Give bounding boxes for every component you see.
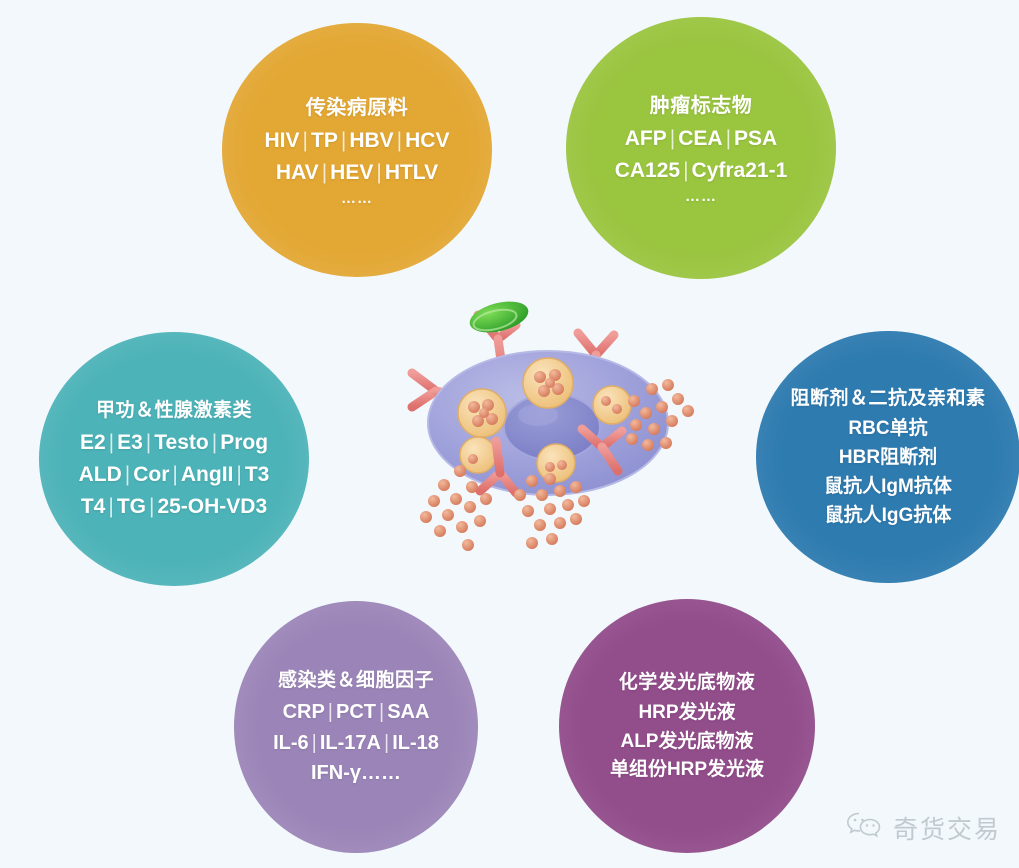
item: AFP: [625, 127, 667, 150]
item: CA125: [615, 159, 680, 182]
separator-icon: |: [309, 732, 320, 754]
bubble-line: 鼠抗人IgM抗体: [824, 473, 952, 502]
separator-icon: |: [122, 463, 133, 486]
separator-icon: |: [105, 495, 116, 518]
item: PSA: [734, 127, 777, 150]
item: HTLV: [385, 161, 438, 184]
item: IL-6: [273, 732, 309, 754]
bubble-line: CA125|Cyfra21-1: [615, 155, 788, 187]
vesicle-bottom-mid-edge: [537, 444, 575, 482]
vesicle-top: [523, 358, 573, 408]
vesicle-left: [458, 389, 506, 437]
item: Cyfra21-1: [692, 159, 788, 182]
item: T3: [245, 463, 270, 486]
bubble-content: 甲功＆性腺激素类 E2|E3|Testo|Prog ALD|Cor|AngII|…: [30, 395, 318, 523]
wechat-watermark: 奇货交易: [844, 809, 1001, 846]
separator-icon: |: [325, 701, 336, 723]
separator-icon: |: [723, 127, 734, 150]
separator-icon: |: [143, 431, 154, 454]
bubble-line: E2|E3|Testo|Prog: [80, 427, 268, 459]
bubble-ellipsis: ……: [685, 186, 717, 207]
item: IL-17A: [320, 732, 381, 754]
bubble-blockers-secondary-antibodies-avidin[interactable]: 阻断剂＆二抗及亲和素 RBC单抗 HBR阻断剂 鼠抗人IgM抗体 鼠抗人IgG抗…: [747, 322, 1019, 592]
wechat-icon: [844, 809, 884, 846]
bubble-line: AFP|CEA|PSA: [625, 123, 777, 155]
separator-icon: |: [319, 161, 330, 184]
separator-icon: |: [146, 495, 157, 518]
item: HCV: [405, 129, 449, 152]
bubble-title: 甲功＆性腺激素类: [96, 395, 252, 422]
item: PCT: [336, 701, 376, 723]
item: SAA: [387, 701, 429, 723]
vesicle-right-edge: [593, 386, 631, 424]
antigen-icon: [467, 296, 532, 338]
item: 25-OH-VD3: [157, 495, 267, 518]
separator-icon: |: [338, 129, 349, 152]
bubble-content: 感染类＆细胞因子 CRP|PCT|SAA IL-6|IL-17A|IL-18 I…: [225, 665, 487, 788]
separator-icon: |: [233, 463, 244, 486]
bubble-content: 传染病原料 HIV|TP|HBV|HCV HAV|HEV|HTLV ……: [213, 91, 501, 210]
separator-icon: |: [667, 127, 678, 150]
item: HIV: [265, 129, 300, 152]
bubble-line: IFN-γ……: [311, 758, 401, 788]
bubble-line: 鼠抗人IgG抗体: [825, 502, 952, 531]
bubble-title: 肿瘤标志物: [650, 89, 753, 118]
item: HAV: [276, 161, 319, 184]
bubble-title: 阻断剂＆二抗及亲和素: [790, 383, 985, 410]
bubble-line: HBR阻断剂: [839, 444, 937, 473]
item: AngII: [181, 463, 234, 486]
bubble-content: 化学发光底物液 HRP发光液 ALP发光底物液 单组份HRP发光液: [550, 667, 824, 786]
bubble-line: ALD|Cor|AngII|T3: [79, 459, 270, 491]
bubble-line: CRP|PCT|SAA: [283, 697, 430, 727]
bubble-tumor-markers[interactable]: 肿瘤标志物 AFP|CEA|PSA CA125|Cyfra21-1 ……: [557, 8, 845, 288]
separator-icon: |: [680, 159, 691, 182]
vesicle-bottom-left-edge: [460, 437, 496, 473]
separator-icon: |: [376, 701, 387, 723]
separator-icon: |: [394, 129, 405, 152]
item: Prog: [220, 431, 268, 454]
item: HEV: [330, 161, 373, 184]
bubble-chemiluminescent-substrates[interactable]: 化学发光底物液 HRP发光液 ALP发光底物液 单组份HRP发光液: [550, 590, 824, 862]
bubble-infectious-disease-raw-materials[interactable]: 传染病原料 HIV|TP|HBV|HCV HAV|HEV|HTLV ……: [213, 14, 501, 286]
separator-icon: |: [381, 732, 392, 754]
separator-icon: |: [373, 161, 384, 184]
separator-icon: |: [209, 431, 220, 454]
item: CRP: [283, 701, 325, 723]
item: TG: [117, 495, 146, 518]
separator-icon: |: [300, 129, 311, 152]
watermark-text: 奇货交易: [893, 810, 1001, 846]
item: CEA: [678, 127, 722, 150]
item: Cor: [133, 463, 169, 486]
item: TP: [311, 129, 338, 152]
bubble-title: 感染类＆细胞因子: [278, 665, 434, 692]
bubble-thyroid-and-gonadal-hormones[interactable]: 甲功＆性腺激素类 E2|E3|Testo|Prog ALD|Cor|AngII|…: [30, 323, 318, 595]
bubble-line: RBC单抗: [848, 415, 927, 444]
bubble-line: HAV|HEV|HTLV: [276, 157, 438, 189]
item: E2: [80, 431, 106, 454]
bubble-line: IL-6|IL-17A|IL-18: [273, 728, 439, 758]
item: Testo: [154, 431, 208, 454]
cell-with-antibodies-illustration: [400, 295, 700, 560]
item: HBV: [349, 129, 393, 152]
bubble-line: HIV|TP|HBV|HCV: [265, 125, 450, 157]
bubble-line: 单组份HRP发光液: [610, 756, 764, 785]
bubble-title: 传染病原料: [306, 91, 409, 120]
bubble-ellipsis: ……: [341, 188, 373, 209]
item: ALD: [79, 463, 122, 486]
bubble-line: ALP发光底物液: [620, 728, 753, 757]
bubble-line: HRP发光液: [638, 699, 735, 728]
separator-icon: |: [169, 463, 180, 486]
bubble-infection-and-cytokines[interactable]: 感染类＆细胞因子 CRP|PCT|SAA IL-6|IL-17A|IL-18 I…: [225, 592, 487, 862]
bubble-content: 肿瘤标志物 AFP|CEA|PSA CA125|Cyfra21-1 ……: [557, 89, 845, 208]
separator-icon: |: [106, 431, 117, 454]
item: E3: [117, 431, 143, 454]
bubble-line: T4|TG|25-OH-VD3: [81, 491, 267, 523]
item: T4: [81, 495, 106, 518]
bubble-title: 化学发光底物液: [619, 667, 756, 694]
bubble-content: 阻断剂＆二抗及亲和素 RBC单抗 HBR阻断剂 鼠抗人IgM抗体 鼠抗人IgG抗…: [747, 383, 1019, 531]
diagram-canvas: 传染病原料 HIV|TP|HBV|HCV HAV|HEV|HTLV …… 肿瘤标…: [0, 0, 1019, 868]
item: IL-18: [392, 732, 439, 754]
